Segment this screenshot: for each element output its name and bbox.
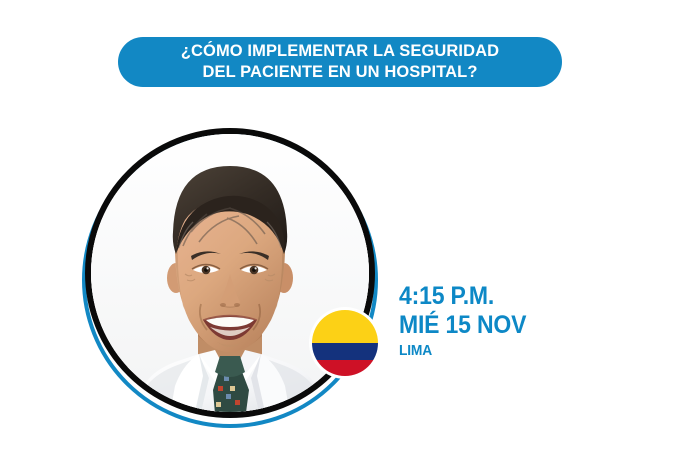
flag-stripe-blue: [312, 343, 378, 360]
event-date: MIÉ 15 NOV: [399, 311, 583, 340]
colombia-flag-icon: [309, 307, 381, 379]
flag-stripe-red: [312, 360, 378, 377]
flag-inner: [312, 310, 378, 376]
title-banner: ¿CÓMO IMPLEMENTAR LA SEGURIDAD DEL PACIE…: [118, 37, 562, 87]
flag-stripe-yellow: [312, 310, 378, 343]
event-time: 4:15 P.M.: [399, 282, 583, 311]
page-title: ¿CÓMO IMPLEMENTAR LA SEGURIDAD DEL PACIE…: [181, 41, 499, 83]
schedule-block: 4:15 P.M. MIÉ 15 NOV LIMA: [399, 282, 599, 360]
promo-card: ¿CÓMO IMPLEMENTAR LA SEGURIDAD DEL PACIE…: [0, 0, 680, 454]
speaker-portrait: [80, 128, 380, 428]
event-city: LIMA: [399, 341, 583, 360]
